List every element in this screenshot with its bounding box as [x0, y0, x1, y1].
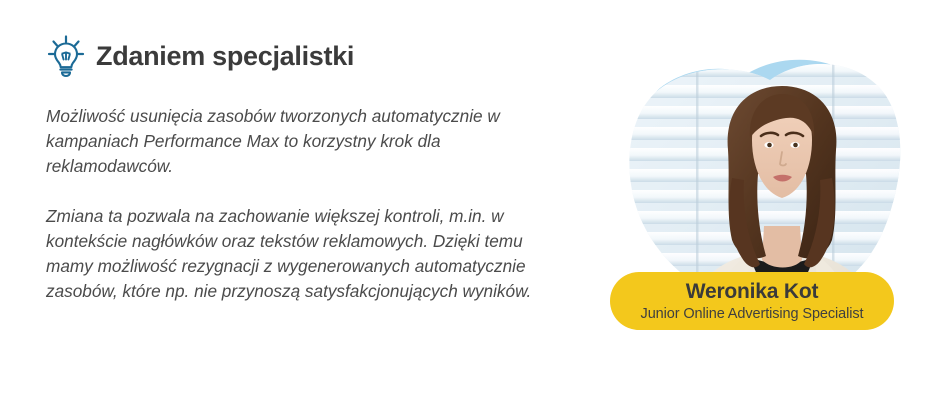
quote-text: Możliwość usunięcia zasobów tworzonych a…: [46, 104, 546, 304]
section-header: Zdaniem specjalistki: [46, 30, 566, 82]
status-badge: Weronika Kot Junior Online Advertising S…: [610, 272, 894, 330]
lightbulb-idea-icon: [46, 33, 86, 79]
expert-opinion-block: Zdaniem specjalistki Możliwość usunięcia…: [46, 30, 566, 304]
page-title: Zdaniem specjalistki: [96, 43, 354, 70]
specialist-name: Weronika Kot: [686, 281, 819, 303]
specialist-role: Junior Online Advertising Specialist: [641, 306, 864, 323]
quote-paragraph-1: Możliwość usunięcia zasobów tworzonych a…: [46, 104, 546, 179]
quote-paragraph-2: Zmiana ta pozwala na zachowanie większej…: [46, 204, 546, 304]
